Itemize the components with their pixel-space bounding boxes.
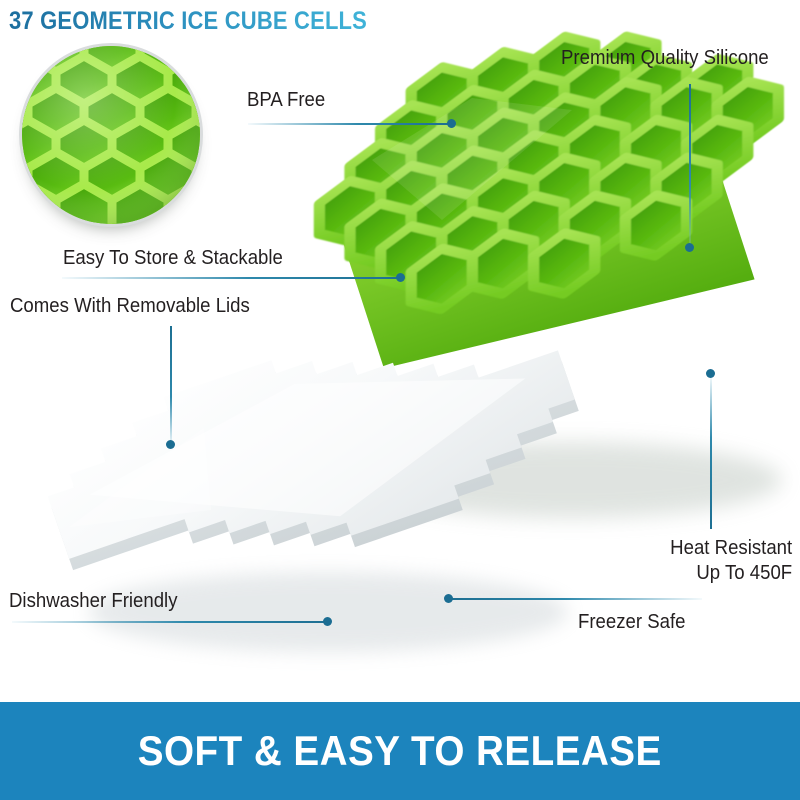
connector-line-easy-store-stackable: [62, 277, 402, 279]
callout-label-heat-resistant-line2: Up To 450F: [670, 561, 792, 586]
honeycomb-closeup-circle: [22, 46, 200, 224]
callout-label-premium-silicone: Premium Quality Silicone: [561, 46, 769, 71]
connector-dot-removable-lids: [166, 440, 175, 449]
callout-label-bpa-free: BPA Free: [247, 88, 325, 113]
callout-label-heat-resistant: Heat Resistant Up To 450F: [670, 536, 792, 586]
callout-label-easy-store-stackable: Easy To Store & Stackable: [63, 246, 283, 271]
connector-dot-easy-store-stackable: [396, 273, 405, 282]
connector-line-bpa-free: [248, 123, 448, 125]
page-title: 37 GEOMETRIC ICE CUBE CELLS: [9, 7, 367, 36]
connector-line-premium-silicone: [689, 84, 691, 247]
connector-dot-dishwasher-friendly: [323, 617, 332, 626]
connector-line-freezer-safe: [452, 598, 702, 600]
connector-dot-bpa-free: [447, 119, 456, 128]
connector-dot-premium-silicone: [685, 243, 694, 252]
callout-label-dishwasher-friendly: Dishwasher Friendly: [9, 589, 177, 614]
callout-label-removable-lids: Comes With Removable Lids: [10, 294, 250, 319]
connector-dot-freezer-safe: [444, 594, 453, 603]
callout-label-freezer-safe: Freezer Safe: [578, 610, 686, 635]
connector-line-heat-resistant: [710, 377, 712, 529]
connector-line-removable-lids: [170, 326, 172, 444]
callout-label-heat-resistant-line1: Heat Resistant: [670, 536, 792, 561]
infographic-page: 37 GEOMETRIC ICE CUBE CELLS: [0, 0, 800, 800]
connector-line-dishwasher-friendly: [12, 621, 330, 623]
connector-dot-heat-resistant: [706, 369, 715, 378]
banner-text: SOFT & EASY TO RELEASE: [138, 727, 662, 775]
bottom-banner: SOFT & EASY TO RELEASE: [0, 702, 800, 800]
